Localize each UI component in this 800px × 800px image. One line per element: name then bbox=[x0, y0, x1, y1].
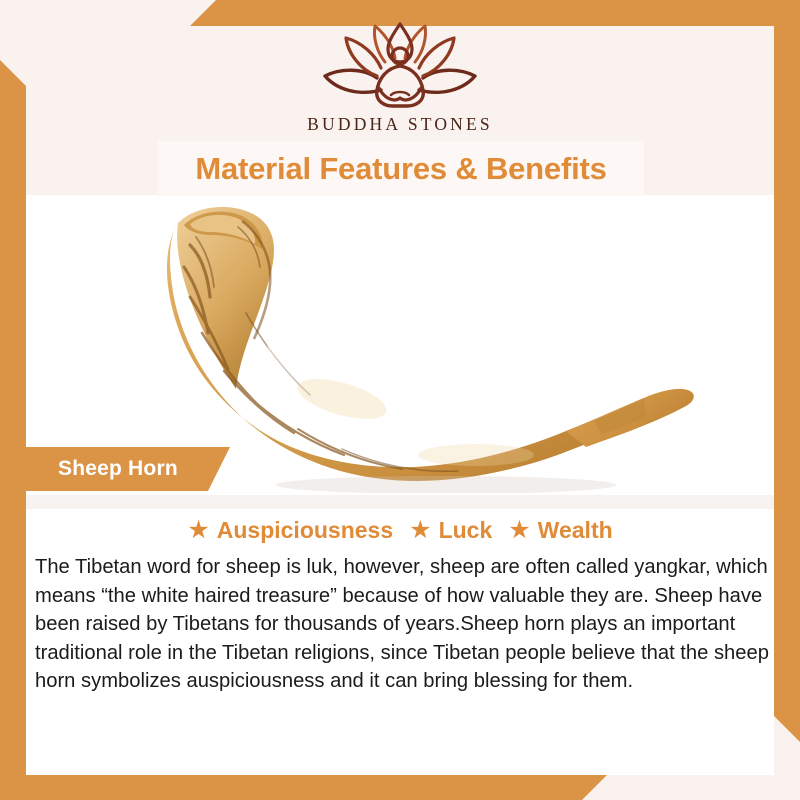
benefit-label: Wealth bbox=[538, 517, 613, 544]
brand-logo: BUDDHA STONES bbox=[0, 18, 800, 135]
benefits-row: ★ Auspiciousness ★ Luck ★ Wealth bbox=[26, 517, 774, 544]
benefit-item: ★ Luck bbox=[409, 517, 492, 544]
title-banner: Material Features & Benefits bbox=[158, 141, 644, 196]
benefit-label: Luck bbox=[439, 517, 493, 544]
star-icon: ★ bbox=[508, 518, 530, 543]
product-label-banner: Sheep Horn bbox=[0, 447, 230, 491]
benefit-item: ★ Wealth bbox=[508, 517, 612, 544]
photo-divider bbox=[26, 495, 774, 509]
lotus-meditation-icon bbox=[315, 18, 485, 110]
product-label: Sheep Horn bbox=[58, 447, 178, 491]
description-text: The Tibetan word for sheep is luk, howev… bbox=[35, 553, 770, 696]
star-icon: ★ bbox=[409, 518, 431, 543]
brand-name: BUDDHA STONES bbox=[307, 114, 493, 135]
page-title: Material Features & Benefits bbox=[195, 151, 606, 187]
star-icon: ★ bbox=[187, 518, 209, 543]
sheep-horn-image bbox=[146, 195, 706, 493]
benefit-label: Auspiciousness bbox=[217, 517, 393, 544]
benefit-item: ★ Auspiciousness bbox=[187, 517, 393, 544]
